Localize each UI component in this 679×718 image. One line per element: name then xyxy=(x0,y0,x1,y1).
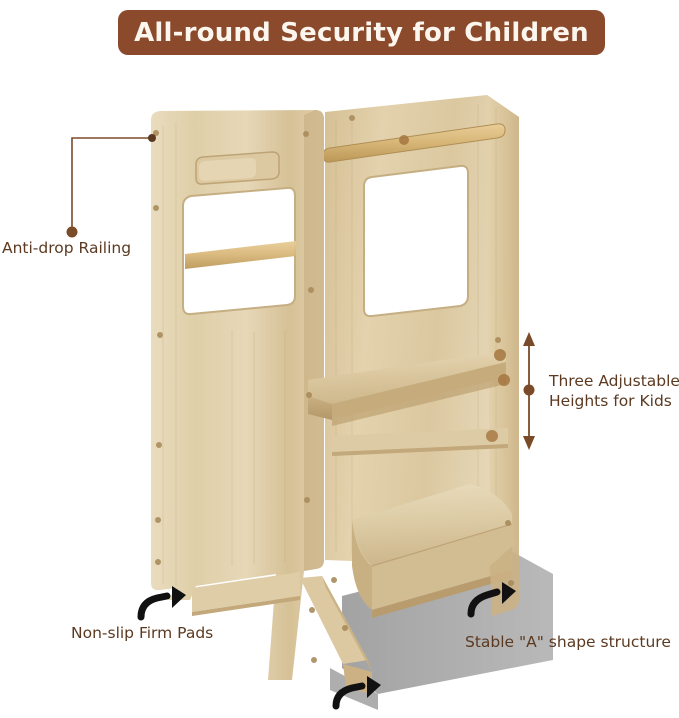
product-illustration xyxy=(0,0,679,718)
infographic-root: All-round Security for Children Anti-dro… xyxy=(0,0,679,718)
title-banner: All-round Security for Children xyxy=(118,10,605,55)
annotation-anti-drop-railing: Anti-drop Railing xyxy=(2,238,131,258)
annotation-line-1: Three Adjustable xyxy=(549,371,679,391)
annotation-line-2: Heights for Kids xyxy=(549,391,679,411)
annotation-stable-a-shape-structure: Stable "A" shape structure xyxy=(465,632,671,652)
annotation-three-adjustable-heights: Three Adjustable Heights for Kids xyxy=(549,371,679,411)
a-shape-leg-gap-left xyxy=(199,468,300,574)
page-title: All-round Security for Children xyxy=(134,18,589,48)
annotation-non-slip-firm-pads: Non-slip Firm Pads xyxy=(71,623,213,643)
